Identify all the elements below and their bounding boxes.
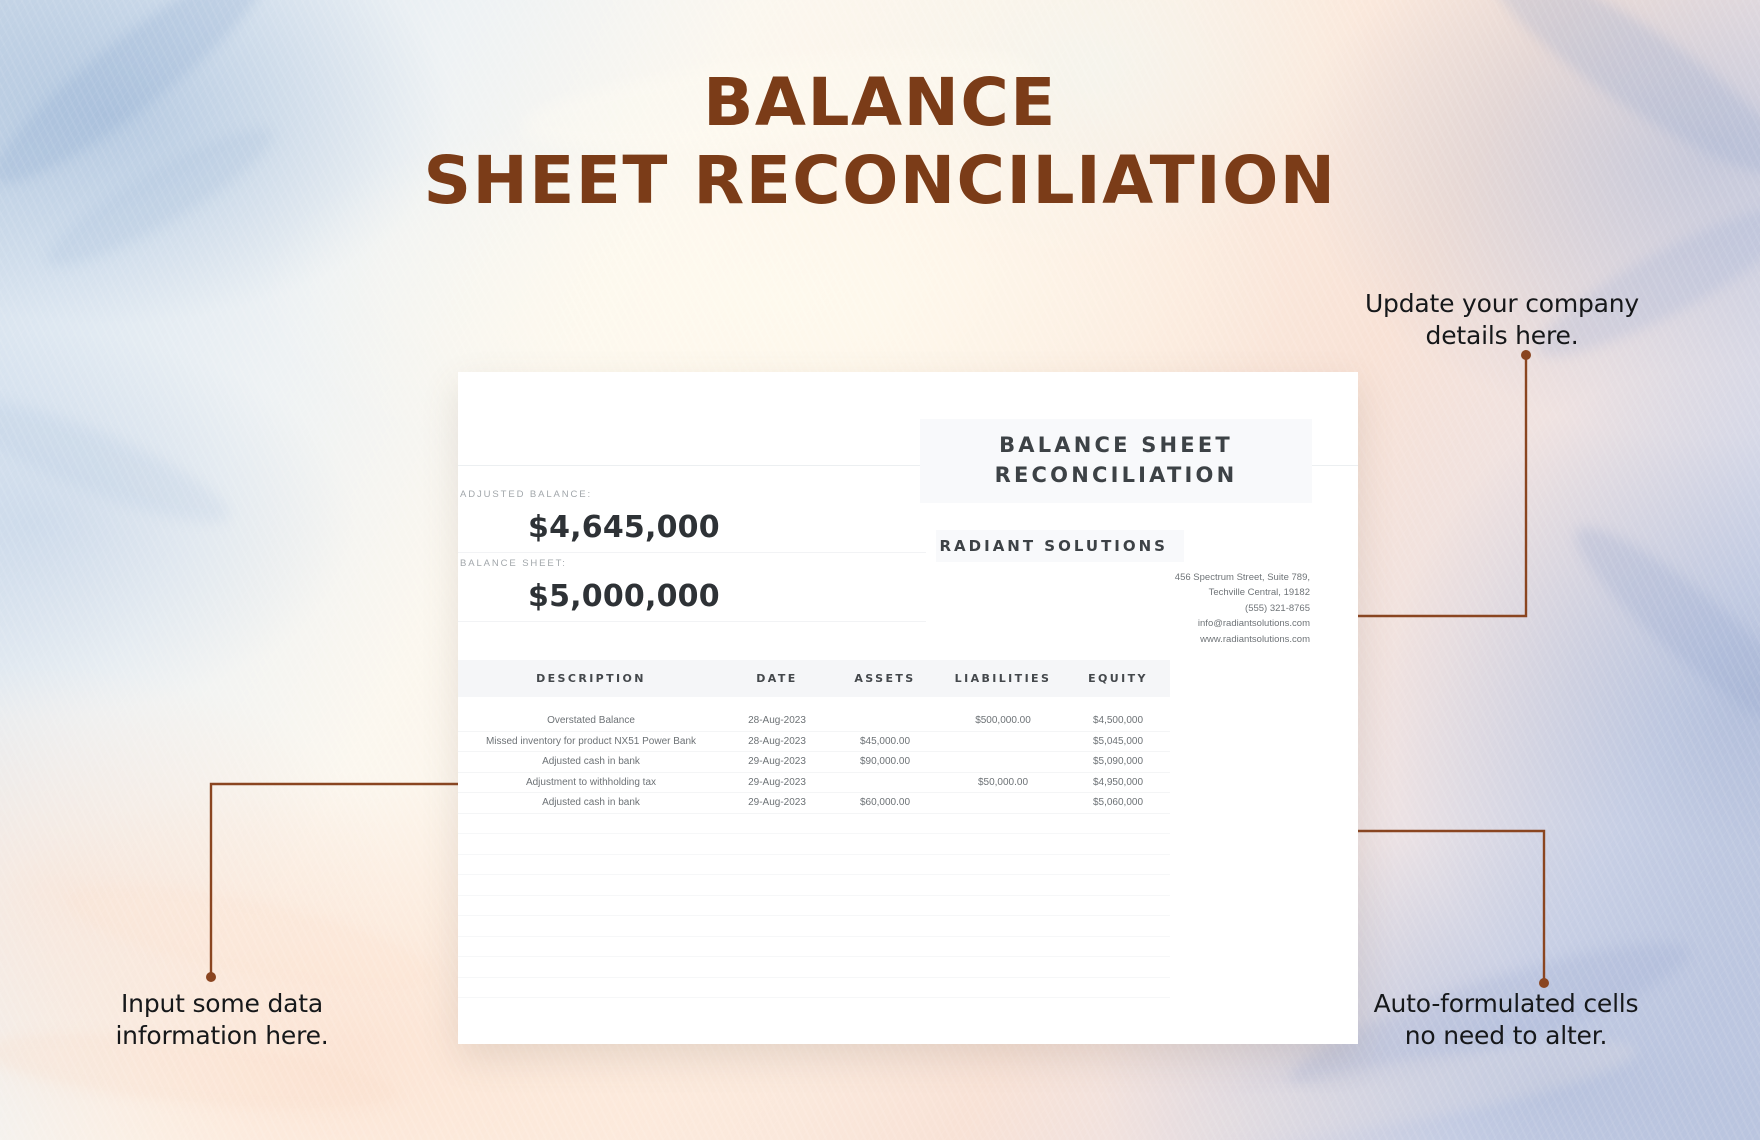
cell-equity: $4,950,000	[1066, 777, 1170, 788]
table-empty-row[interactable]	[458, 916, 1170, 937]
company-website: www.radiantsolutions.com	[1175, 632, 1310, 647]
table-empty-row[interactable]	[458, 978, 1170, 999]
balance-sheet-value[interactable]: $5,000,000	[528, 579, 720, 614]
page-title: Balance Sheet Reconciliation	[0, 64, 1760, 220]
cell-assets: $45,000.00	[830, 736, 940, 747]
table-top-gap	[458, 697, 1170, 711]
table-row[interactable]: Adjustment to withholding tax29-Aug-2023…	[458, 773, 1170, 794]
column-header-equity: EQUITY	[1066, 672, 1170, 685]
adjusted-balance-label: ADJUSTED BALANCE:	[460, 489, 592, 500]
column-header-assets: ASSETS	[830, 672, 940, 685]
cell-assets: $90,000.00	[830, 756, 940, 767]
annotation-auto-formula: Auto-formulated cells no need to alter.	[1336, 988, 1676, 1051]
cell-description: Adjusted cash in bank	[458, 797, 724, 808]
cell-liabilities: $500,000.00	[940, 715, 1066, 726]
annotation-input-data: Input some data information here.	[52, 988, 392, 1051]
company-name: RADIANT SOLUTIONS	[940, 537, 1169, 555]
balance-sheet-rule	[458, 621, 926, 622]
cell-description: Missed inventory for product NX51 Power …	[458, 736, 724, 747]
document-title: BALANCE SHEET RECONCILIATION	[995, 431, 1238, 491]
cell-description: Adjusted cash in bank	[458, 756, 724, 767]
table-row[interactable]: Adjusted cash in bank29-Aug-2023$60,000.…	[458, 793, 1170, 814]
company-email: info@radiantsolutions.com	[1175, 616, 1310, 631]
cell-equity: $5,090,000	[1066, 756, 1170, 767]
cell-equity: $5,045,000	[1066, 736, 1170, 747]
cell-date: 28-Aug-2023	[724, 715, 830, 726]
table-empty-row[interactable]	[458, 896, 1170, 917]
cell-liabilities: $50,000.00	[940, 777, 1066, 788]
document-title-block: BALANCE SHEET RECONCILIATION	[920, 419, 1312, 503]
table-row[interactable]: Missed inventory for product NX51 Power …	[458, 732, 1170, 753]
cell-equity: $5,060,000	[1066, 797, 1170, 808]
cell-equity: $4,500,000	[1066, 715, 1170, 726]
cell-date: 29-Aug-2023	[724, 756, 830, 767]
column-header-liabilities: LIABILITIES	[940, 672, 1066, 685]
poster-canvas: Balance Sheet Reconciliation Update yo	[0, 0, 1760, 1140]
reconciliation-table: DESCRIPTION DATE ASSETS LIABILITIES EQUI…	[458, 660, 1170, 998]
company-phone: (555) 321-8765	[1175, 601, 1310, 616]
annotation-company-details: Update your company details here.	[1332, 288, 1672, 351]
adjusted-balance-rule	[458, 552, 926, 553]
table-empty-row[interactable]	[458, 834, 1170, 855]
table-empty-row[interactable]	[458, 814, 1170, 835]
table-body: Overstated Balance28-Aug-2023$500,000.00…	[458, 711, 1170, 998]
table-empty-row[interactable]	[458, 855, 1170, 876]
table-empty-row[interactable]	[458, 957, 1170, 978]
cell-date: 29-Aug-2023	[724, 777, 830, 788]
company-address-line2: Techville Central, 19182	[1175, 585, 1310, 600]
balance-sheet-label: BALANCE SHEET:	[460, 558, 567, 569]
column-header-date: DATE	[724, 672, 830, 685]
table-empty-row[interactable]	[458, 937, 1170, 958]
table-header-row: DESCRIPTION DATE ASSETS LIABILITIES EQUI…	[458, 660, 1170, 697]
table-row[interactable]: Adjusted cash in bank29-Aug-2023$90,000.…	[458, 752, 1170, 773]
company-details-block[interactable]: 456 Spectrum Street, Suite 789, Techvill…	[1175, 570, 1310, 647]
cell-date: 29-Aug-2023	[724, 797, 830, 808]
company-address-line1: 456 Spectrum Street, Suite 789,	[1175, 570, 1310, 585]
document-card: BALANCE SHEET RECONCILIATION ADJUSTED BA…	[458, 372, 1358, 1044]
column-header-description: DESCRIPTION	[458, 672, 724, 685]
cell-date: 28-Aug-2023	[724, 736, 830, 747]
company-name-block[interactable]: RADIANT SOLUTIONS	[936, 530, 1184, 562]
cell-description: Overstated Balance	[458, 715, 724, 726]
table-row[interactable]: Overstated Balance28-Aug-2023$500,000.00…	[458, 711, 1170, 732]
table-empty-row[interactable]	[458, 875, 1170, 896]
cell-description: Adjustment to withholding tax	[458, 777, 724, 788]
cell-assets: $60,000.00	[830, 797, 940, 808]
adjusted-balance-value[interactable]: $4,645,000	[528, 510, 720, 545]
